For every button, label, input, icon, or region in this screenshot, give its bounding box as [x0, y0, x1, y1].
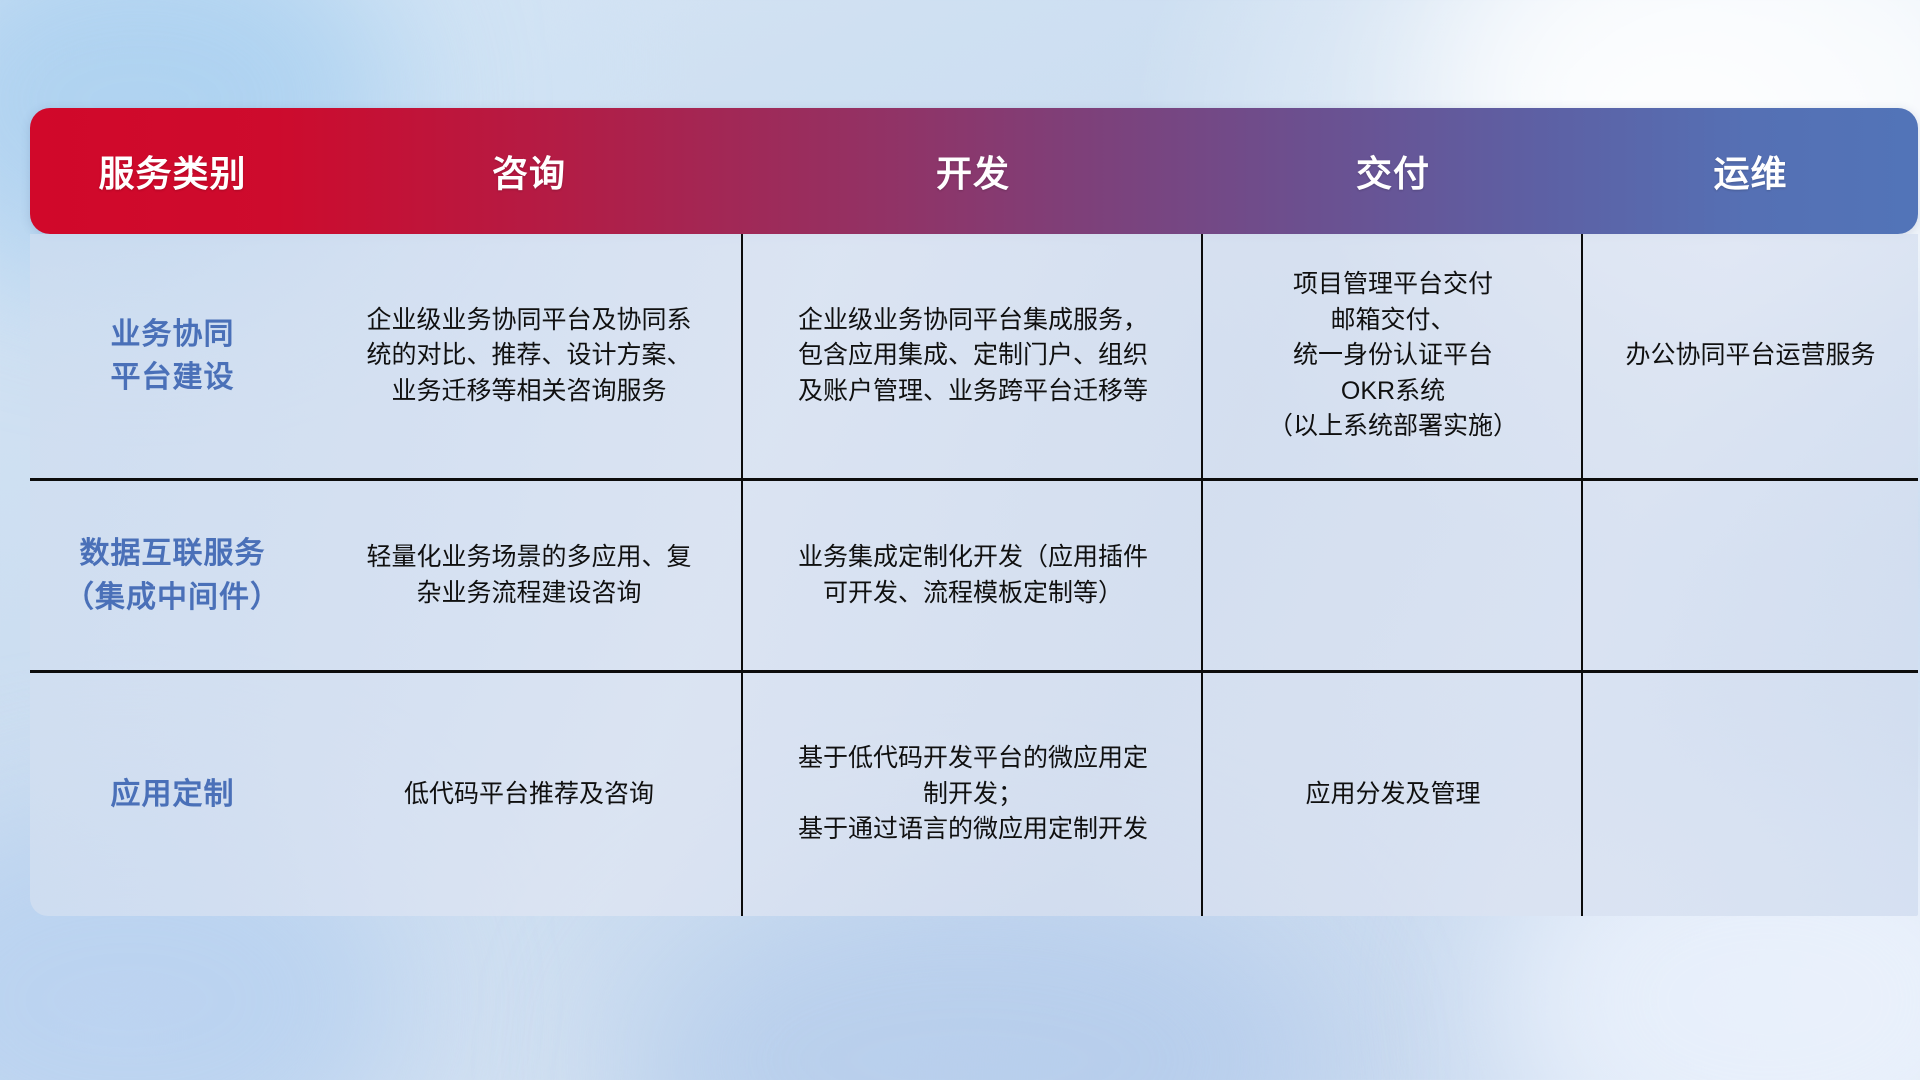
table-row: 应用定制 低代码平台推荐及咨询 基于低代码开发平台的微应用定 制开发； 基于通过… — [30, 673, 1918, 916]
column-header-service-category: 服务类别 — [30, 108, 315, 234]
cell-consulting: 低代码平台推荐及咨询 — [315, 673, 743, 916]
table-body: 业务协同 平台建设 企业级业务协同平台及协同系 统的对比、推荐、设计方案、 业务… — [30, 234, 1918, 916]
cell-development: 基于低代码开发平台的微应用定 制开发； 基于通过语言的微应用定制开发 — [743, 673, 1203, 916]
cell-operations — [1583, 481, 1918, 670]
table-row: 数据互联服务 （集成中间件） 轻量化业务场景的多应用、复 杂业务流程建设咨询 业… — [30, 481, 1918, 673]
cell-operations — [1583, 673, 1918, 916]
cell-consulting: 企业级业务协同平台及协同系 统的对比、推荐、设计方案、 业务迁移等相关咨询服务 — [315, 234, 743, 478]
column-header-operations: 运维 — [1583, 108, 1918, 234]
cell-development: 企业级业务协同平台集成服务， 包含应用集成、定制门户、组织 及账户管理、业务跨平… — [743, 234, 1203, 478]
cell-delivery: 项目管理平台交付 邮箱交付、 统一身份认证平台 OKR系统 （以上系统部署实施） — [1203, 234, 1583, 478]
column-header-delivery: 交付 — [1203, 108, 1583, 234]
table-header-row: 服务类别 咨询 开发 交付 运维 — [30, 108, 1918, 234]
cell-consulting: 轻量化业务场景的多应用、复 杂业务流程建设咨询 — [315, 481, 743, 670]
cell-delivery — [1203, 481, 1583, 670]
row-category-label: 应用定制 — [30, 673, 315, 916]
row-category-label: 数据互联服务 （集成中间件） — [30, 481, 315, 670]
row-category-label: 业务协同 平台建设 — [30, 234, 315, 478]
cell-development: 业务集成定制化开发（应用插件 可开发、流程模板定制等） — [743, 481, 1203, 670]
column-header-consulting: 咨询 — [315, 108, 743, 234]
cell-delivery: 应用分发及管理 — [1203, 673, 1583, 916]
service-matrix-table: 服务类别 咨询 开发 交付 运维 业务协同 平台建设 企业级业务协同平台及协同系… — [30, 108, 1918, 916]
column-header-development: 开发 — [743, 108, 1203, 234]
table-row: 业务协同 平台建设 企业级业务协同平台及协同系 统的对比、推荐、设计方案、 业务… — [30, 234, 1918, 481]
cell-operations: 办公协同平台运营服务 — [1583, 234, 1918, 478]
